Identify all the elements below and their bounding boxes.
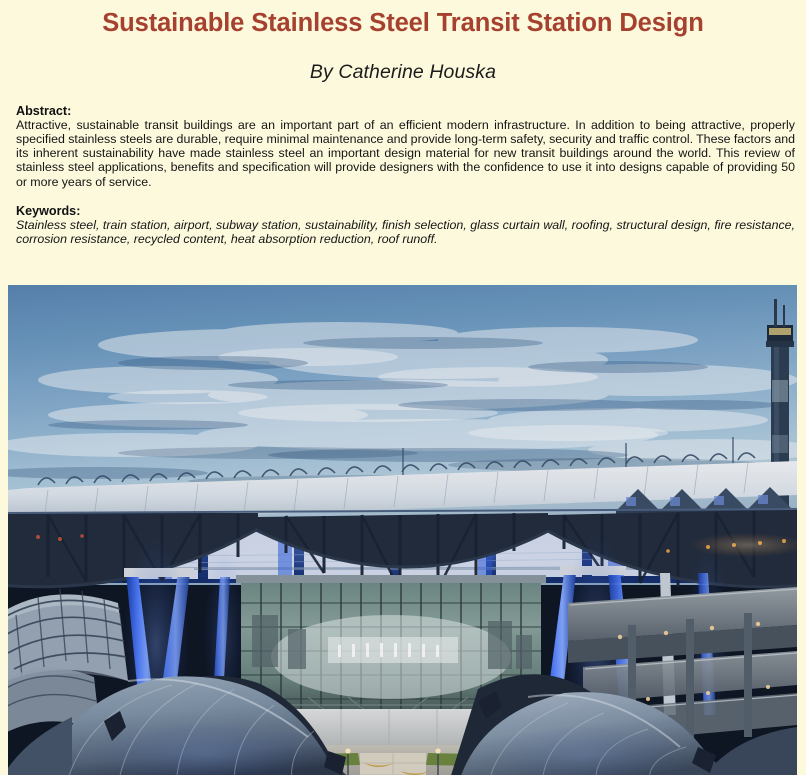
document-page: Sustainable Stainless Steel Transit Stat…	[0, 0, 806, 775]
abstract-section: Abstract: Attractive, sustainable transi…	[0, 84, 806, 189]
abstract-body: Attractive, sustainable transit building…	[16, 118, 795, 189]
transit-station-photo	[8, 285, 797, 775]
abstract-heading: Abstract:	[16, 104, 795, 118]
keywords-body: Stainless steel, train station, airport,…	[16, 218, 795, 246]
page-title: Sustainable Stainless Steel Transit Stat…	[0, 0, 806, 39]
keywords-section: Keywords: Stainless steel, train station…	[0, 189, 806, 247]
keywords-heading: Keywords:	[16, 204, 795, 218]
author-byline: By Catherine Houska	[0, 39, 806, 84]
transit-station-illustration	[8, 285, 797, 775]
